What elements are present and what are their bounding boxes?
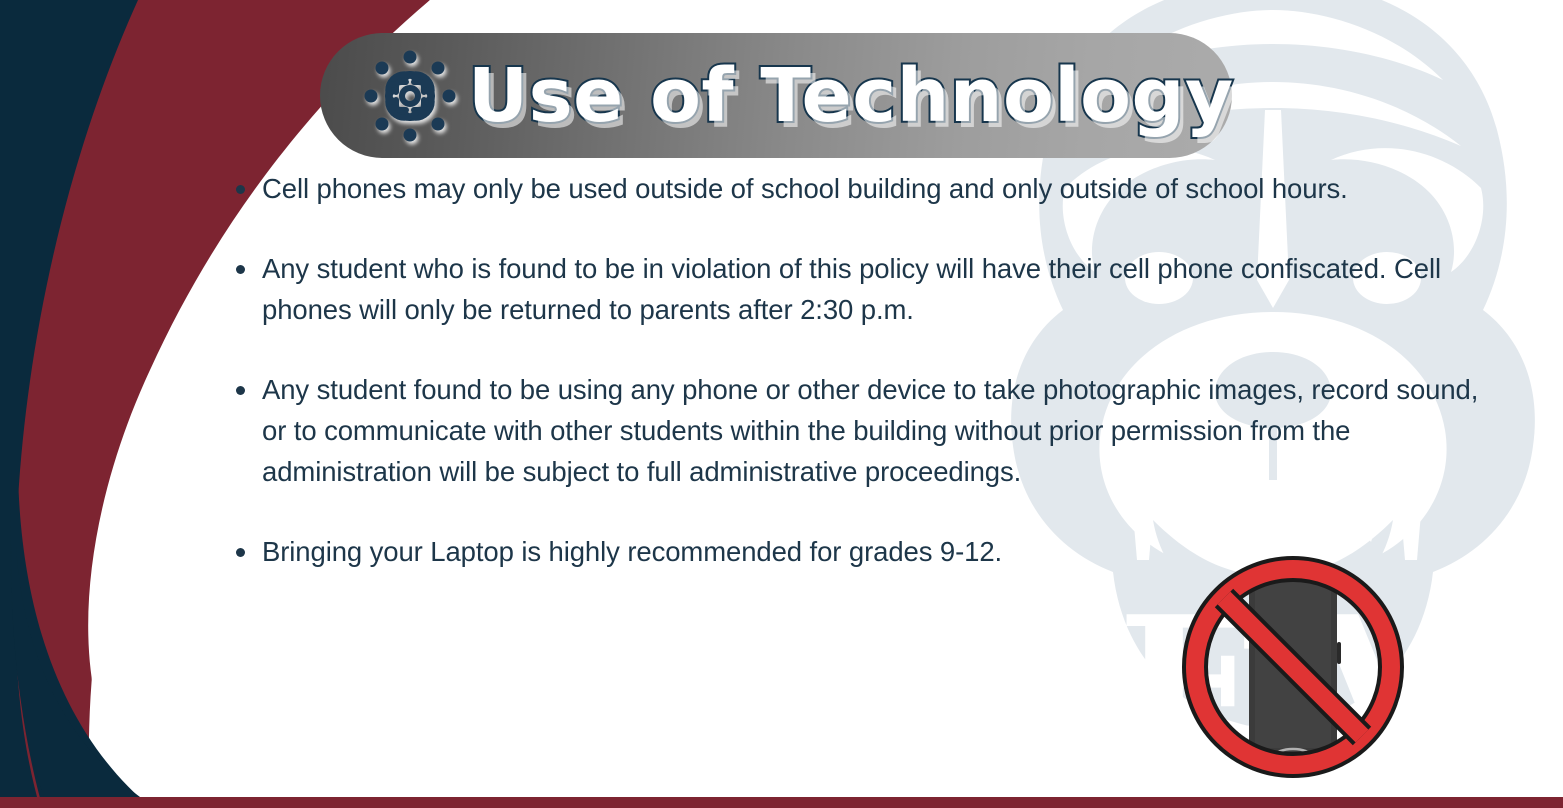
slide-title-banner: Use of Technology [320, 33, 1232, 158]
bullet-dot-icon [236, 548, 245, 557]
policy-bullet-list: Cell phones may only be used outside of … [230, 168, 1485, 572]
list-item: Bringing your Laptop is highly recommend… [230, 531, 1485, 572]
bullet-dot-icon [236, 386, 245, 395]
prohibition-ring [1195, 569, 1391, 765]
bullet-text: Cell phones may only be used outside of … [262, 168, 1422, 209]
bullet-text: Any student who is found to be in violat… [262, 248, 1485, 330]
navy-swoosh-shape [0, 0, 138, 808]
no-mobile-phone-prohibition-sign [1177, 546, 1409, 788]
mobile-phone-icon [1249, 568, 1341, 766]
navy-bottom-wedge [12, 545, 140, 797]
bullet-text: Any student found to be using any phone … [262, 369, 1485, 492]
list-item: Cell phones may only be used outside of … [230, 168, 1485, 209]
svg-text:EA: EA [1117, 573, 1427, 808]
page-title: Use of Technology [468, 59, 1234, 133]
bottom-accent-strip [0, 797, 1563, 808]
list-item: Any student found to be using any phone … [230, 369, 1485, 492]
bullet-dot-icon [236, 185, 245, 194]
slide-canvas: EA [0, 0, 1563, 808]
bullet-text: Bringing your Laptop is highly recommend… [262, 531, 1485, 572]
bullet-dot-icon [236, 265, 245, 274]
navy-swoosh-tail [10, 470, 140, 798]
list-item: Any student who is found to be in violat… [230, 248, 1485, 330]
ornamental-mandala-icon [362, 48, 458, 144]
watermark-monogram: EA [1117, 573, 1427, 808]
